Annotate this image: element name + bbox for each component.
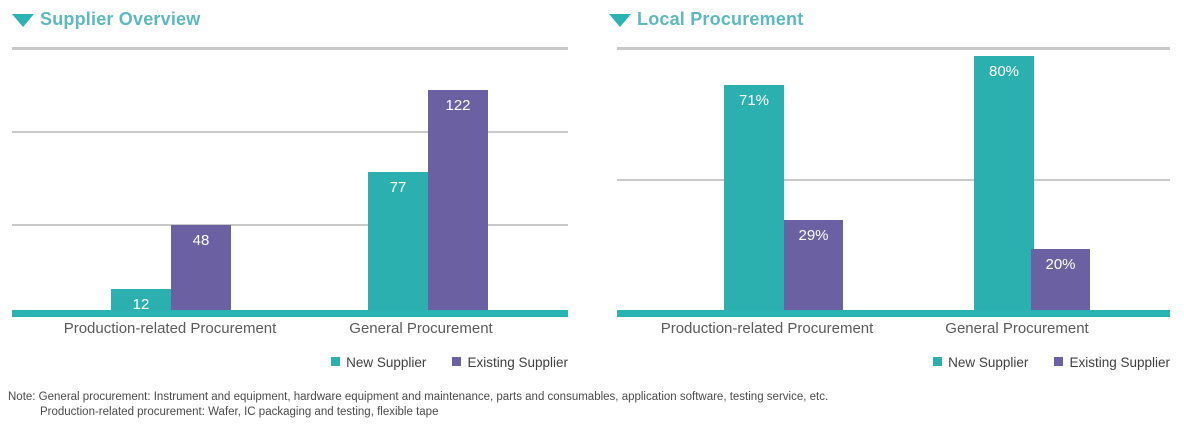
legend: New Supplier Existing Supplier: [907, 355, 1170, 377]
panel-local-procurement: Local Procurement 71% 29% 80% 20% Produc…: [592, 0, 1184, 385]
legend-item-existing-supplier[interactable]: Existing Supplier: [452, 355, 568, 370]
category-labels: Production-related Procurement General P…: [0, 320, 592, 344]
bar-new-general[interactable]: 80%: [974, 56, 1034, 313]
plot-area-supplier-overview: 12 48 77 122: [12, 48, 568, 313]
legend-label: Existing Supplier: [1069, 355, 1170, 370]
legend-label: Existing Supplier: [467, 355, 568, 370]
bar-value-label: 20%: [1031, 256, 1090, 273]
panel-header: Local Procurement: [592, 0, 1184, 44]
legend-item-new-supplier[interactable]: New Supplier: [331, 355, 426, 370]
legend-swatch-icon: [331, 357, 340, 366]
category-label-production: Production-related Procurement: [640, 320, 894, 337]
page-title: Local Procurement: [637, 9, 803, 30]
charts-container: Supplier Overview 12 48 77 122 Productio…: [0, 0, 1184, 385]
supplier-charts-page: { "colors": { "new_supplier": "#2BB0AF",…: [0, 0, 1184, 428]
bar-existing-general[interactable]: 122: [428, 90, 488, 313]
footnote-line-1: Note: General procurement: Instrument an…: [8, 391, 828, 403]
axis-line: [617, 310, 1170, 317]
footnote-line-2: Production-related procurement: Wafer, I…: [8, 405, 1178, 420]
legend-item-new-supplier[interactable]: New Supplier: [933, 355, 1028, 370]
triangle-down-icon: [609, 14, 631, 27]
gridline: [617, 48, 1170, 50]
category-label-production: Production-related Procurement: [46, 320, 294, 337]
legend-swatch-icon: [933, 357, 942, 366]
plot-area-local-procurement: 71% 29% 80% 20%: [617, 48, 1170, 313]
gridline: [617, 179, 1170, 181]
bar-existing-production[interactable]: 29%: [784, 220, 843, 313]
bar-new-general[interactable]: 77: [368, 172, 428, 313]
legend: New Supplier Existing Supplier: [305, 355, 568, 377]
legend-label: New Supplier: [346, 355, 426, 370]
bar-value-label: 77: [368, 179, 428, 196]
legend-swatch-icon: [1054, 357, 1063, 366]
bar-new-production[interactable]: 71%: [724, 85, 784, 313]
category-label-general: General Procurement: [330, 320, 512, 337]
bar-existing-general[interactable]: 20%: [1031, 249, 1090, 313]
category-labels: Production-related Procurement General P…: [592, 320, 1184, 344]
bar-existing-production[interactable]: 48: [171, 225, 231, 313]
gridline: [12, 48, 568, 50]
bar-value-label: 48: [171, 232, 231, 249]
page-title: Supplier Overview: [40, 9, 200, 30]
bar-value-label: 122: [428, 97, 488, 114]
bar-value-label: 29%: [784, 227, 843, 244]
bar-value-label: 71%: [724, 92, 784, 109]
legend-item-existing-supplier[interactable]: Existing Supplier: [1054, 355, 1170, 370]
panel-supplier-overview: Supplier Overview 12 48 77 122 Productio…: [0, 0, 592, 385]
panel-header: Supplier Overview: [0, 0, 604, 44]
bar-value-label: 80%: [974, 63, 1034, 80]
legend-swatch-icon: [452, 357, 461, 366]
footnote: Note: General procurement: Instrument an…: [8, 390, 1178, 420]
category-label-general: General Procurement: [922, 320, 1112, 337]
legend-label: New Supplier: [948, 355, 1028, 370]
axis-line: [12, 310, 568, 317]
triangle-down-icon: [12, 14, 34, 27]
